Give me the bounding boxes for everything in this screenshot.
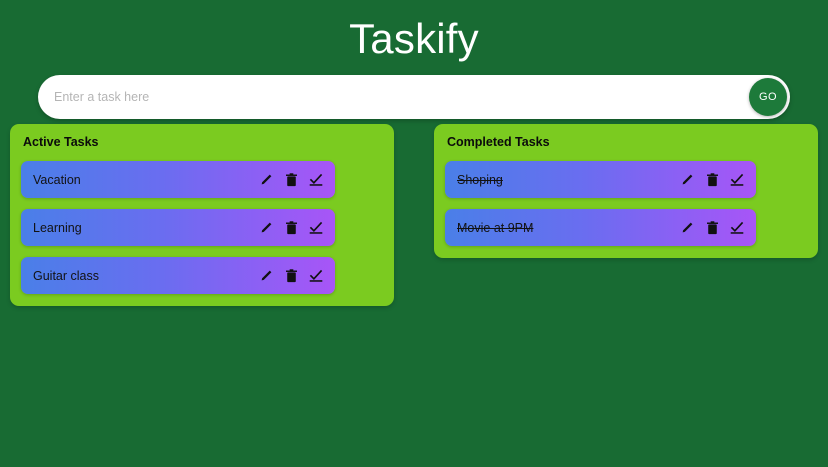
task-label: Vacation (21, 173, 259, 187)
task-row[interactable]: Movie at 9PM (445, 209, 756, 246)
task-row[interactable]: Guitar class (21, 257, 335, 294)
task-actions (680, 220, 756, 236)
trash-icon[interactable] (705, 220, 719, 236)
trash-icon[interactable] (284, 172, 298, 188)
task-label: Movie at 9PM (445, 221, 680, 235)
task-label: Shoping (445, 173, 680, 187)
mark-done-icon[interactable] (309, 172, 323, 188)
completed-task-list: Shoping Movie at 9PM (445, 161, 807, 246)
task-actions (680, 172, 756, 188)
trash-icon[interactable] (284, 268, 298, 284)
go-button[interactable]: GO (749, 78, 787, 116)
edit-icon[interactable] (680, 220, 694, 236)
edit-icon[interactable] (259, 268, 273, 284)
task-actions (259, 268, 335, 284)
edit-icon[interactable] (680, 172, 694, 188)
trash-icon[interactable] (284, 220, 298, 236)
task-label: Guitar class (21, 269, 259, 283)
task-actions (259, 172, 335, 188)
task-input[interactable] (54, 75, 744, 119)
mark-done-icon[interactable] (309, 220, 323, 236)
mark-done-icon[interactable] (730, 172, 744, 188)
panel-active-tasks: Active Tasks Vacation Learning (10, 124, 394, 306)
panel-title-active: Active Tasks (23, 135, 383, 149)
task-actions (259, 220, 335, 236)
trash-icon[interactable] (705, 172, 719, 188)
edit-icon[interactable] (259, 220, 273, 236)
panel-title-completed: Completed Tasks (447, 135, 807, 149)
active-task-list: Vacation Learning (21, 161, 383, 294)
add-task-bar: GO (38, 75, 790, 119)
mark-done-icon[interactable] (309, 268, 323, 284)
task-row[interactable]: Vacation (21, 161, 335, 198)
task-label: Learning (21, 221, 259, 235)
edit-icon[interactable] (259, 172, 273, 188)
page-title: Taskify (0, 0, 828, 60)
mark-done-icon[interactable] (730, 220, 744, 236)
panel-completed-tasks: Completed Tasks Shoping Movie at (434, 124, 818, 258)
task-row[interactable]: Learning (21, 209, 335, 246)
task-row[interactable]: Shoping (445, 161, 756, 198)
